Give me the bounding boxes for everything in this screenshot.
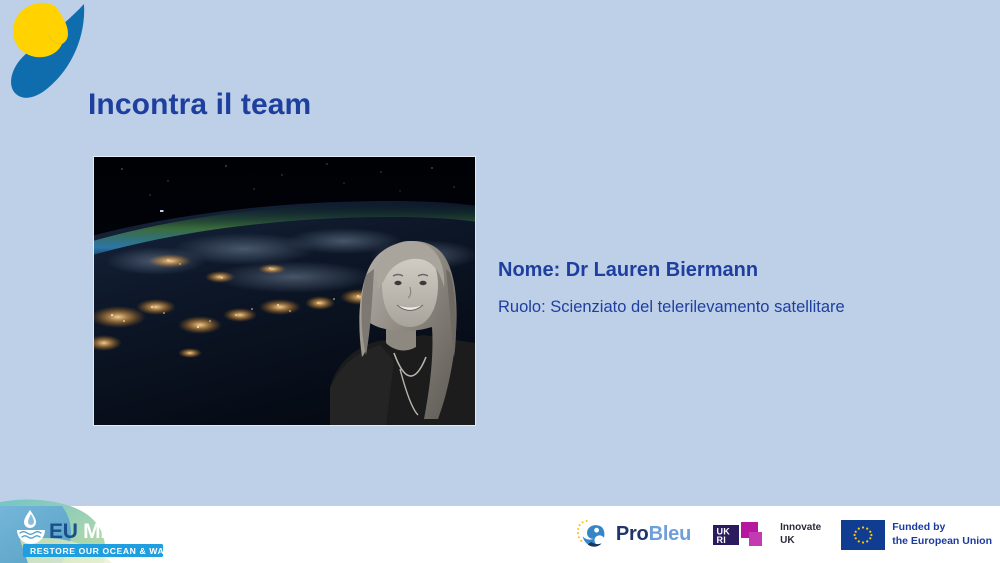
innovate-uk-line-2: UK <box>780 535 821 548</box>
probleu-word-pro: Pro <box>616 523 649 545</box>
eu-missions-logo: EU MISSIONS RESTORE OUR OCEAN & WATERS <box>0 480 200 563</box>
funded-by-eu-line-2: the European Union <box>892 535 992 549</box>
slide-root: Incontra il team <box>0 0 1000 563</box>
innovate-uk-wordmark: Innovate UK <box>780 522 821 547</box>
funded-by-eu-wordmark: Funded by the European Union <box>892 521 992 548</box>
page-title: Incontra il team <box>88 88 311 121</box>
partner-logos: ProBleu UK RI Innovate UK <box>575 506 992 563</box>
partner-probleu: ProBleu <box>575 518 691 552</box>
funded-by-eu-line-1: Funded by <box>892 521 992 535</box>
partner-funded-by-eu: Funded by the European Union <box>841 520 992 550</box>
innovate-uk-line-1: Innovate <box>780 522 821 535</box>
ukri-logo-icon: UK RI <box>711 518 773 552</box>
eu-flag-icon <box>841 520 885 550</box>
footer-bar: EU MISSIONS RESTORE OUR OCEAN & WATERS <box>0 506 1000 563</box>
partner-innovate-uk: UK RI Innovate UK <box>711 518 821 552</box>
person-name: Nome: Dr Lauren Biermann <box>498 258 968 283</box>
person-info-block: Nome: Dr Lauren Biermann Ruolo: Scienzia… <box>498 258 968 318</box>
probleu-swirl-icon <box>575 518 609 552</box>
eu-missions-tagline: RESTORE OUR OCEAN & WATERS <box>30 546 189 556</box>
person-role: Ruolo: Scienziato del telerilevamento sa… <box>498 297 968 318</box>
probleu-wordmark: ProBleu <box>616 523 691 546</box>
probleu-word-bleu: Bleu <box>649 523 692 545</box>
team-member-photo <box>94 157 475 425</box>
svg-text:RI: RI <box>717 535 727 545</box>
eu-missions-title: EU MISSIONS <box>49 520 184 543</box>
